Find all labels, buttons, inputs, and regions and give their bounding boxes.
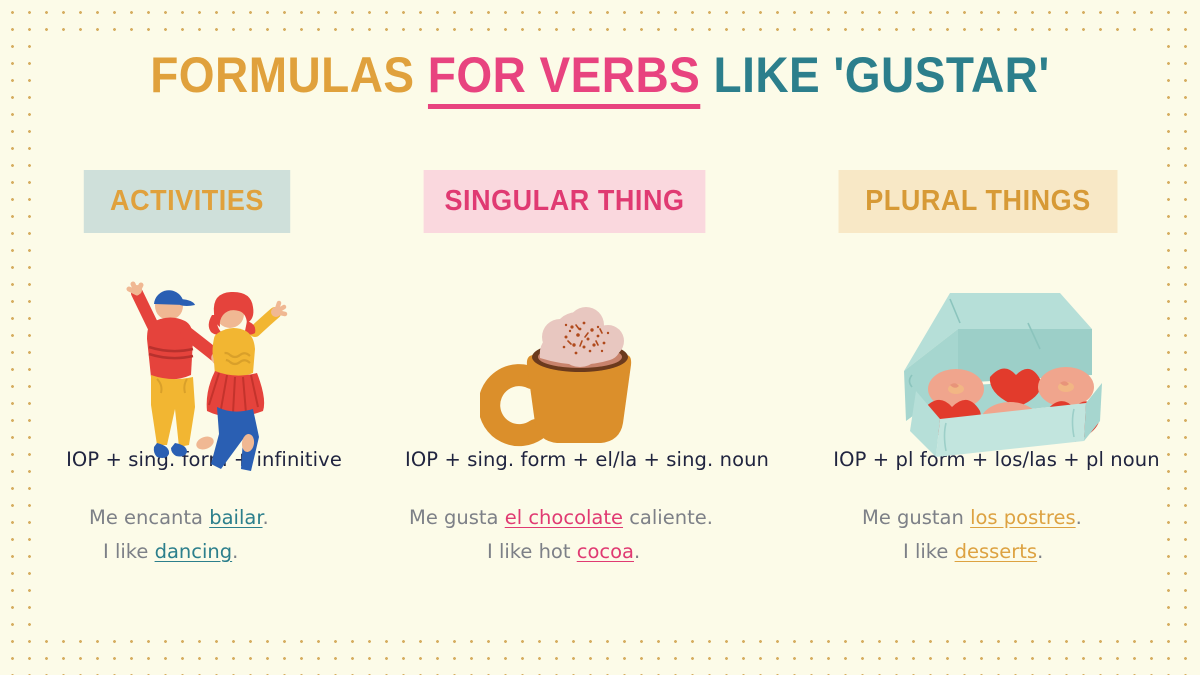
badge-activities: ACTIVITIES [84,170,290,233]
poster-canvas: FORMULAS FOR VERBS LIKE 'GUSTAR' ACTIVIT… [0,0,1200,675]
example-en-prefix: I like hot [487,540,577,563]
example-es-suffix: . [263,506,269,529]
example-spanish-activities: Me encanta bailar. [89,501,387,535]
example-en-suffix: . [1037,540,1043,563]
column-activities: ACTIVITIES [27,170,387,569]
column-singular-thing: SINGULAR THING [405,170,765,569]
example-es-highlight: los postres [970,506,1076,529]
example-en-highlight: dancing [155,540,233,563]
title-segment-formulas: FORMULAS [150,47,428,103]
illustration-dancing-couple [27,233,387,448]
page-title: FORMULAS FOR VERBS LIKE 'GUSTAR' [48,48,1152,103]
column-plural-things: PLURAL THINGS [810,170,1170,569]
example-es-highlight: el chocolate [505,506,623,529]
example-en-suffix: . [634,540,640,563]
badge-plural-things: PLURAL THINGS [839,170,1118,233]
illustration-donut-box [810,233,1170,448]
example-en-highlight: desserts [955,540,1038,563]
example-es-prefix: Me gustan [862,506,970,529]
example-es-suffix: caliente. [623,506,713,529]
poster-content: FORMULAS FOR VERBS LIKE 'GUSTAR' ACTIVIT… [0,0,1200,675]
example-english-activities: I like dancing. [103,535,387,569]
title-segment-like-gustar: LIKE 'GUSTAR' [700,47,1049,103]
example-en-highlight: cocoa [577,540,634,563]
example-es-highlight: bailar [209,506,262,529]
badge-plural-things-label: PLURAL THINGS [865,185,1091,218]
badge-activities-label: ACTIVITIES [110,185,264,218]
example-spanish-plural: Me gustan los postres. [862,501,1170,535]
example-spanish-singular: Me gusta el chocolate caliente. [409,501,765,535]
example-english-plural: I like desserts. [903,535,1170,569]
example-es-prefix: Me encanta [89,506,209,529]
examples-plural-things: Me gustan los postres. I like desserts. [810,501,1170,569]
donut-box-icon [888,271,1108,466]
illustration-hot-chocolate [405,233,765,448]
badge-singular-thing: SINGULAR THING [424,170,706,233]
example-en-suffix: . [232,540,238,563]
example-es-prefix: Me gusta [409,506,505,529]
example-es-suffix: . [1076,506,1082,529]
hot-chocolate-mug-icon [480,283,680,463]
examples-activities: Me encanta bailar. I like dancing. [27,501,387,569]
badge-singular-thing-label: SINGULAR THING [444,185,684,218]
example-en-prefix: I like [903,540,955,563]
example-en-prefix: I like [103,540,155,563]
title-segment-for-verbs: FOR VERBS [428,47,701,109]
dancing-couple-icon [75,271,305,471]
example-english-singular: I like hot cocoa. [487,535,765,569]
examples-singular-thing: Me gusta el chocolate caliente. I like h… [405,501,765,569]
